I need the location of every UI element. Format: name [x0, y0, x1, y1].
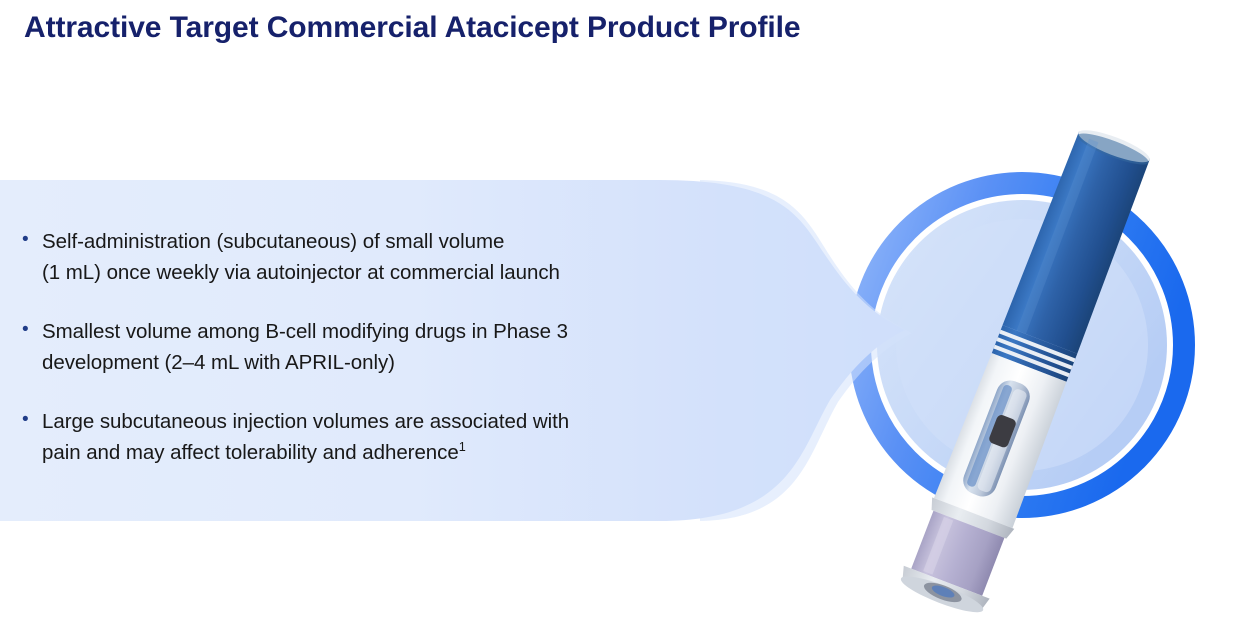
page-title: Attractive Target Commercial Atacicept P…: [24, 8, 1124, 48]
slide: Attractive Target Commercial Atacicept P…: [0, 0, 1244, 621]
bullet-marker-icon: •: [22, 226, 42, 244]
content-panel: • Self-administration (subcutaneous) of …: [0, 180, 860, 522]
dark-blue-cap: [1003, 123, 1155, 353]
bullet-line: Self-administration (subcutaneous) of sm…: [42, 226, 832, 257]
dark-plunger-stopper: [988, 414, 1017, 449]
bullet-line-with-footnote: pain and may affect tolerability and adh…: [42, 437, 832, 468]
bullet-text-smallest-volume: Smallest volume among B-cell modifying d…: [42, 316, 832, 378]
list-item: • Large subcutaneous injection volumes a…: [22, 406, 832, 468]
bullet-list: • Self-administration (subcutaneous) of …: [22, 226, 832, 468]
white-barrel: [934, 352, 1068, 528]
bullet-text-self-administration: Self-administration (subcutaneous) of sm…: [42, 226, 832, 288]
autoinjector-pen-image: [820, 100, 1244, 621]
inspection-window: [959, 376, 1034, 500]
bullet-line: Large subcutaneous injection volumes are…: [42, 406, 832, 437]
bullet-line-text: pain and may affect tolerability and adh…: [42, 441, 459, 464]
blue-ring-graphic: [860, 183, 1184, 507]
bullet-marker-icon: •: [22, 316, 42, 334]
bullet-line: Smallest volume among B-cell modifying d…: [42, 316, 832, 347]
bullet-line: (1 mL) once weekly via autoinjector at c…: [42, 257, 832, 288]
footnote-marker: 1: [459, 439, 466, 454]
bullet-marker-icon: •: [22, 406, 42, 424]
bullet-text-injection-volume: Large subcutaneous injection volumes are…: [42, 406, 832, 468]
lavender-needle-shield: [896, 497, 1016, 620]
list-item: • Smallest volume among B-cell modifying…: [22, 316, 832, 378]
list-item: • Self-administration (subcutaneous) of …: [22, 226, 832, 288]
bullet-line: development (2–4 mL with APRIL-only): [42, 347, 832, 378]
white-grip-stripes: [992, 325, 1077, 382]
